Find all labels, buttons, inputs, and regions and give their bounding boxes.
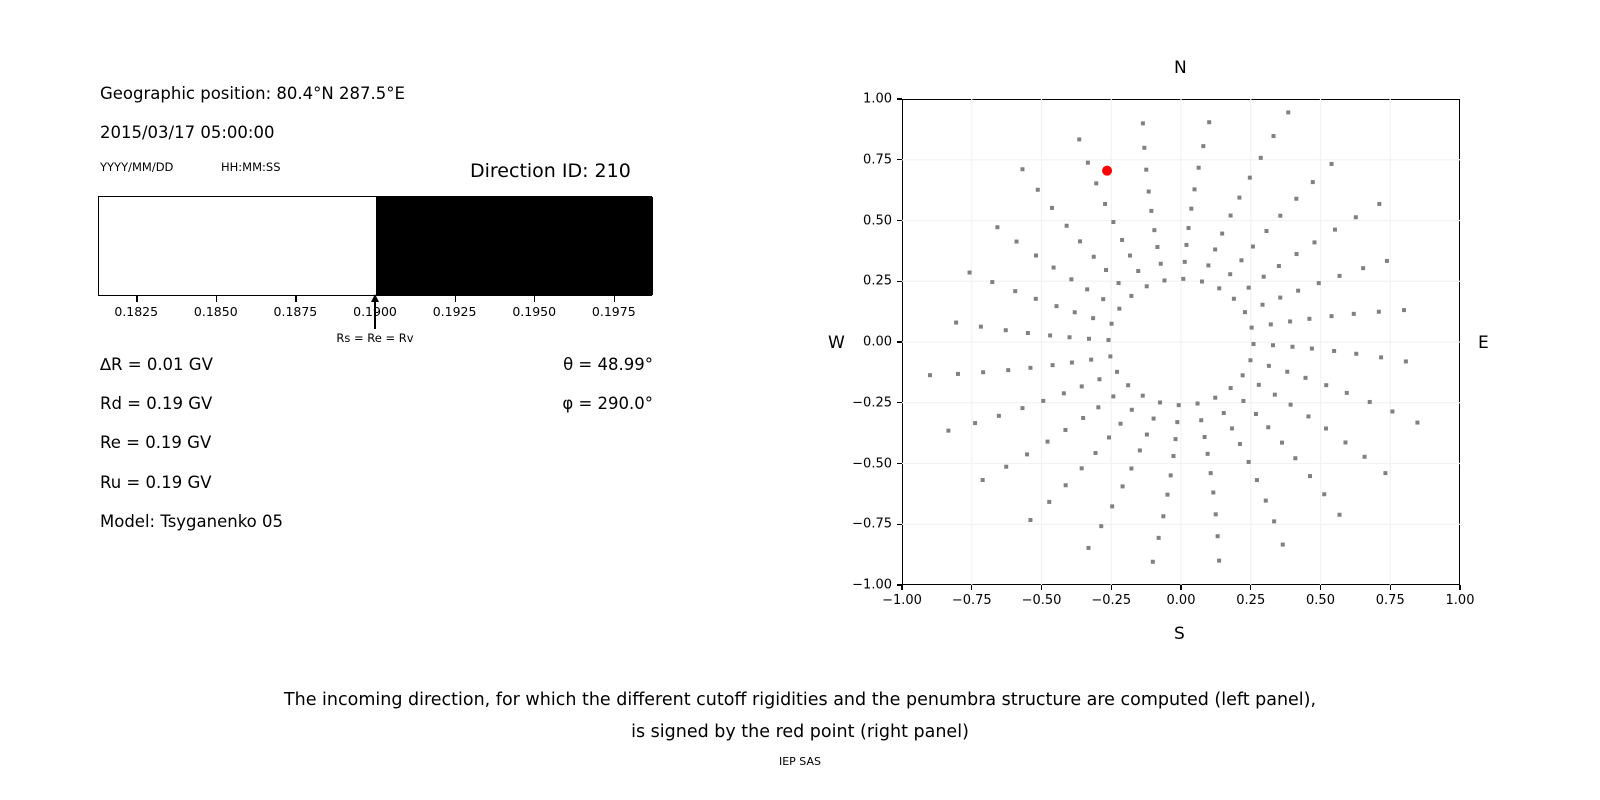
direction-point <box>1096 405 1100 409</box>
direction-point <box>1101 297 1105 301</box>
direction-point <box>1368 400 1372 404</box>
direction-point <box>1152 228 1156 232</box>
direction-point <box>1048 333 1052 337</box>
x-axis-tick-label: 0.00 <box>1167 593 1196 608</box>
direction-point <box>1065 224 1069 228</box>
direction-point <box>1054 304 1058 308</box>
penumbra-tick <box>295 296 296 302</box>
direction-point <box>1130 408 1134 412</box>
direction-point <box>1415 421 1419 425</box>
direction-point <box>1288 319 1292 323</box>
y-axis-tick-label: 0.50 <box>863 213 892 228</box>
direction-point <box>1119 422 1123 426</box>
direction-point <box>1239 258 1243 262</box>
direction-point <box>1261 303 1265 307</box>
direction-point <box>1086 546 1090 550</box>
direction-point <box>1312 240 1316 244</box>
penumbra-bar <box>98 196 652 296</box>
direction-point <box>1295 252 1299 256</box>
direction-point <box>1111 394 1115 398</box>
direction-point <box>1063 428 1067 432</box>
direction-point <box>1073 310 1077 314</box>
direction-point <box>1238 442 1242 446</box>
direction-point <box>1251 245 1255 249</box>
direction-point <box>1092 255 1096 259</box>
direction-point <box>1161 514 1165 518</box>
x-axis-tick <box>901 585 902 590</box>
direction-point <box>1159 262 1163 266</box>
direction-point <box>1277 264 1281 268</box>
direction-point <box>1273 393 1277 397</box>
direction-point <box>1278 296 1282 300</box>
direction-point <box>1217 559 1221 563</box>
direction-point <box>997 414 1001 418</box>
direction-point <box>1383 471 1387 475</box>
direction-point <box>1280 441 1284 445</box>
direction-point <box>1111 220 1115 224</box>
direction-point <box>1272 519 1276 523</box>
direction-point <box>1169 473 1173 477</box>
y-axis-tick-label: 1.00 <box>863 92 892 107</box>
direction-point <box>1165 493 1169 497</box>
direction-point <box>1157 536 1161 540</box>
x-axis-tick-label: −0.50 <box>1022 593 1062 608</box>
date-format-hint: YYYY/MM/DD <box>100 160 173 174</box>
direction-point <box>1255 478 1259 482</box>
y-axis-tick-label: 0.25 <box>863 274 892 289</box>
parameter-line: Re = 0.19 GV <box>100 433 211 452</box>
direction-point <box>1222 411 1226 415</box>
direction-point <box>1041 399 1045 403</box>
direction-point <box>1091 316 1095 320</box>
scatter-canvas <box>902 99 1460 585</box>
direction-point <box>1200 280 1204 284</box>
direction-point <box>1354 352 1358 356</box>
direction-point <box>1025 452 1029 456</box>
direction-point <box>1290 345 1294 349</box>
direction-point <box>1196 402 1200 406</box>
direction-point <box>1138 448 1142 452</box>
direction-point <box>1377 310 1381 314</box>
direction-point <box>1107 435 1111 439</box>
direction-point <box>1259 156 1263 160</box>
direction-point <box>1254 412 1258 416</box>
x-axis-tick <box>1180 585 1181 590</box>
caption-line-2: is signed by the red point (right panel) <box>0 716 1600 748</box>
direction-point <box>1209 471 1213 475</box>
direction-point <box>1377 202 1381 206</box>
direction-point <box>1203 435 1207 439</box>
parameter-line: ∆R = 0.01 GV <box>100 355 213 374</box>
direction-point <box>1174 437 1178 441</box>
direction-point <box>1310 347 1314 351</box>
direction-point <box>1142 146 1146 150</box>
penumbra-tick <box>216 296 217 302</box>
direction-point <box>1211 490 1215 494</box>
direction-point <box>928 373 932 377</box>
direction-point <box>1184 243 1188 247</box>
direction-point <box>1293 456 1297 460</box>
direction-point <box>1077 137 1081 141</box>
direction-point <box>1264 499 1268 503</box>
direction-point <box>1338 513 1342 517</box>
direction-point <box>1080 384 1084 388</box>
direction-point <box>1269 322 1273 326</box>
direction-point <box>1149 209 1153 213</box>
y-axis-tick-label: −0.50 <box>852 456 892 471</box>
direction-point <box>1034 297 1038 301</box>
direction-point <box>1136 269 1140 273</box>
direction-point <box>1404 359 1408 363</box>
x-axis-tick-label: −0.25 <box>1091 593 1131 608</box>
direction-point <box>1248 358 1252 362</box>
x-axis-tick <box>1320 585 1321 590</box>
direction-point <box>1324 427 1328 431</box>
direction-point <box>1006 368 1010 372</box>
direction-point <box>1110 504 1114 508</box>
direction-point <box>1363 455 1367 459</box>
figure-caption: The incoming direction, for which the di… <box>0 684 1600 748</box>
x-axis-tick <box>971 585 972 590</box>
direction-point <box>1089 358 1093 362</box>
direction-point <box>1308 474 1312 478</box>
direction-point <box>1338 274 1342 278</box>
direction-point <box>1120 238 1124 242</box>
penumbra-tick <box>136 296 137 302</box>
time-format-hint: HH:MM:SS <box>221 160 281 174</box>
direction-point <box>1051 363 1055 367</box>
x-axis-tick-label: −0.75 <box>952 593 992 608</box>
parameter-line: Model: Tsyganenko 05 <box>100 512 283 531</box>
direction-point <box>1155 245 1159 249</box>
direction-point <box>1243 310 1247 314</box>
x-axis-tick-label: 1.00 <box>1446 593 1475 608</box>
direction-point <box>1129 294 1133 298</box>
direction-point <box>1175 420 1179 424</box>
direction-point <box>1272 134 1276 138</box>
direction-point <box>1271 343 1275 347</box>
direction-point <box>1144 168 1148 172</box>
y-axis-tick <box>897 524 902 525</box>
cardinal-north-label: N <box>1174 58 1187 78</box>
direction-point <box>1126 383 1130 387</box>
direction-point <box>1322 492 1326 496</box>
direction-point <box>1080 466 1084 470</box>
direction-point <box>1281 543 1285 547</box>
direction-point <box>1247 286 1251 290</box>
direction-point <box>1004 328 1008 332</box>
direction-point <box>1213 247 1217 251</box>
direction-point <box>1110 322 1114 326</box>
direction-point <box>1050 206 1054 210</box>
direction-point <box>1330 162 1334 166</box>
direction-point <box>956 372 960 376</box>
direction-point <box>1257 383 1261 387</box>
direction-point <box>1034 253 1038 257</box>
direction-point <box>1141 121 1145 125</box>
direction-point <box>1115 370 1119 374</box>
direction-point <box>1379 355 1383 359</box>
direction-point <box>1285 370 1289 374</box>
cardinal-south-label: S <box>1174 624 1185 644</box>
direction-point <box>1266 425 1270 429</box>
cardinal-west-label: W <box>828 333 845 353</box>
cutoff-marker-line <box>374 301 375 329</box>
direction-point <box>1087 337 1091 341</box>
direction-point <box>1147 190 1151 194</box>
direction-point <box>1311 180 1315 184</box>
penumbra-tick-label: 0.1825 <box>114 304 158 319</box>
direction-point <box>1232 297 1236 301</box>
direction-point <box>1069 277 1073 281</box>
angle-line: φ = 290.0° <box>562 394 653 413</box>
y-axis-tick <box>897 463 902 464</box>
direction-point <box>1213 396 1217 400</box>
direction-point <box>1294 197 1298 201</box>
direction-point <box>1064 483 1068 487</box>
parameter-line: Ru = 0.19 GV <box>100 473 212 492</box>
x-axis-tick <box>1111 585 1112 590</box>
x-axis-tick <box>1459 585 1460 590</box>
cutoff-marker-arrow-icon <box>371 294 379 302</box>
direction-point <box>1162 278 1166 282</box>
y-axis-tick-label: 0.00 <box>863 335 892 350</box>
direction-point <box>1081 416 1085 420</box>
direction-point <box>1220 232 1224 236</box>
direction-point <box>1262 275 1266 279</box>
direction-point <box>1286 110 1290 114</box>
direction-point <box>1304 376 1308 380</box>
x-axis-tick-label: 0.75 <box>1376 593 1405 608</box>
incoming-directions-plot <box>902 99 1460 585</box>
direction-point <box>1228 272 1232 276</box>
direction-point <box>1248 176 1252 180</box>
datetime-value: 2015/03/17 05:00:00 <box>100 123 274 142</box>
direction-point <box>1020 406 1024 410</box>
direction-point <box>1004 465 1008 469</box>
direction-point <box>1015 240 1019 244</box>
direction-point <box>1121 484 1125 488</box>
direction-point <box>1330 314 1334 318</box>
direction-point <box>1070 361 1074 365</box>
direction-point <box>1117 281 1121 285</box>
direction-point <box>1052 266 1056 270</box>
y-axis-tick <box>897 341 902 342</box>
direction-point <box>1307 317 1311 321</box>
direction-point <box>1237 196 1241 200</box>
direction-point <box>1241 399 1245 403</box>
y-axis-tick-label: −1.00 <box>852 578 892 593</box>
direction-point <box>1046 440 1050 444</box>
direction-point <box>1181 277 1185 281</box>
direction-point <box>1145 433 1149 437</box>
direction-point <box>1078 239 1082 243</box>
direction-point <box>1324 383 1328 387</box>
direction-point <box>1108 354 1112 358</box>
direction-point <box>1187 226 1191 230</box>
x-axis-tick <box>1250 585 1251 590</box>
direction-point <box>973 421 977 425</box>
cutoff-marker-label: Rs = Re = Rv <box>336 331 413 345</box>
direction-point <box>1099 524 1103 528</box>
direction-point <box>981 370 985 374</box>
direction-point <box>1177 403 1181 407</box>
direction-point <box>1152 417 1156 421</box>
direction-point <box>1345 391 1349 395</box>
y-axis-tick-label: −0.75 <box>852 517 892 532</box>
direction-point <box>1068 335 1072 339</box>
y-axis-tick <box>897 402 902 403</box>
penumbra-chart: 0.18250.18500.18750.19000.19250.19500.19… <box>98 196 652 296</box>
direction-point <box>1117 307 1121 311</box>
direction-point <box>954 321 958 325</box>
footer-credit: IEP SAS <box>0 755 1600 768</box>
selected-direction-point[interactable] <box>1102 166 1112 176</box>
geographic-position: Geographic position: 80.4°N 287.5°E <box>100 84 405 103</box>
direction-point <box>1026 331 1030 335</box>
direction-point <box>1028 518 1032 522</box>
direction-point <box>1206 263 1210 267</box>
direction-point <box>1141 394 1145 398</box>
direction-point <box>1343 440 1347 444</box>
cardinal-east-label: E <box>1478 333 1489 353</box>
direction-point <box>1094 181 1098 185</box>
direction-point <box>990 280 994 284</box>
direction-point <box>1207 120 1211 124</box>
direction-point <box>946 429 950 433</box>
direction-point <box>1352 312 1356 316</box>
direction-point <box>1171 454 1175 458</box>
direction-point <box>1385 259 1389 263</box>
y-axis-tick-label: 0.75 <box>863 152 892 167</box>
direction-point <box>1216 534 1220 538</box>
direction-point <box>1306 414 1310 418</box>
y-axis-tick <box>897 159 902 160</box>
direction-point <box>1094 451 1098 455</box>
x-axis-tick-label: 0.50 <box>1306 593 1335 608</box>
direction-point <box>1106 338 1110 342</box>
direction-point <box>981 478 985 482</box>
direction-point <box>1199 418 1203 422</box>
direction-point <box>1206 452 1210 456</box>
direction-point <box>1217 286 1221 290</box>
direction-point <box>1158 400 1162 404</box>
direction-point <box>1250 326 1254 330</box>
direction-point <box>1229 214 1233 218</box>
direction-point <box>995 225 999 229</box>
direction-point <box>1189 207 1193 211</box>
direction-point <box>1333 228 1337 232</box>
direction-point <box>1402 308 1406 312</box>
direction-point <box>1097 377 1101 381</box>
y-axis-tick <box>897 281 902 282</box>
direction-point <box>1193 187 1197 191</box>
penumbra-forbidden-band <box>376 197 653 295</box>
direction-point <box>1036 188 1040 192</box>
direction-point <box>1390 409 1394 413</box>
penumbra-tick-label: 0.1975 <box>592 304 636 319</box>
caption-line-1: The incoming direction, for which the di… <box>0 684 1600 716</box>
direction-point <box>1278 214 1282 218</box>
penumbra-tick-label: 0.1925 <box>433 304 477 319</box>
direction-point <box>979 325 983 329</box>
direction-point <box>1028 366 1032 370</box>
direction-point <box>1047 500 1051 504</box>
direction-point <box>1183 260 1187 264</box>
direction-point <box>1289 403 1293 407</box>
direction-point <box>1103 202 1107 206</box>
direction-point <box>1214 512 1218 516</box>
direction-point <box>1317 281 1321 285</box>
direction-point <box>1086 161 1090 165</box>
x-axis-tick-label: 0.25 <box>1236 593 1265 608</box>
direction-point <box>1013 289 1017 293</box>
direction-point <box>1332 349 1336 353</box>
direction-point <box>1252 342 1256 346</box>
x-axis-tick <box>1390 585 1391 590</box>
direction-point <box>1201 144 1205 148</box>
direction-point <box>1264 229 1268 233</box>
direction-point <box>1062 391 1066 395</box>
direction-point <box>1020 167 1024 171</box>
penumbra-tick <box>455 296 456 302</box>
penumbra-tick-label: 0.1950 <box>512 304 556 319</box>
parameter-line: Rd = 0.19 GV <box>100 394 212 413</box>
y-axis-tick-label: −0.25 <box>852 395 892 410</box>
penumbra-tick-label: 0.1875 <box>274 304 318 319</box>
direction-point <box>1104 268 1108 272</box>
penumbra-tick-label: 0.1850 <box>194 304 238 319</box>
angle-line: θ = 48.99° <box>563 355 653 374</box>
direction-point <box>1361 266 1365 270</box>
direction-point <box>1085 287 1089 291</box>
direction-point <box>1229 386 1233 390</box>
x-axis-tick-label: −1.00 <box>882 593 922 608</box>
penumbra-tick <box>534 296 535 302</box>
y-axis-tick <box>897 98 902 99</box>
direction-point <box>1230 426 1234 430</box>
direction-point <box>1267 364 1271 368</box>
y-axis-tick <box>897 220 902 221</box>
direction-point <box>1247 460 1251 464</box>
direction-id-label: Direction ID: 210 <box>470 160 631 182</box>
penumbra-tick <box>614 296 615 302</box>
direction-point <box>1197 166 1201 170</box>
direction-point <box>1151 560 1155 564</box>
direction-point <box>1145 284 1149 288</box>
direction-point <box>1129 466 1133 470</box>
x-axis-tick <box>1041 585 1042 590</box>
direction-point <box>1354 215 1358 219</box>
direction-point <box>1241 373 1245 377</box>
direction-point <box>1128 254 1132 258</box>
direction-point <box>1296 289 1300 293</box>
direction-point <box>968 271 972 275</box>
